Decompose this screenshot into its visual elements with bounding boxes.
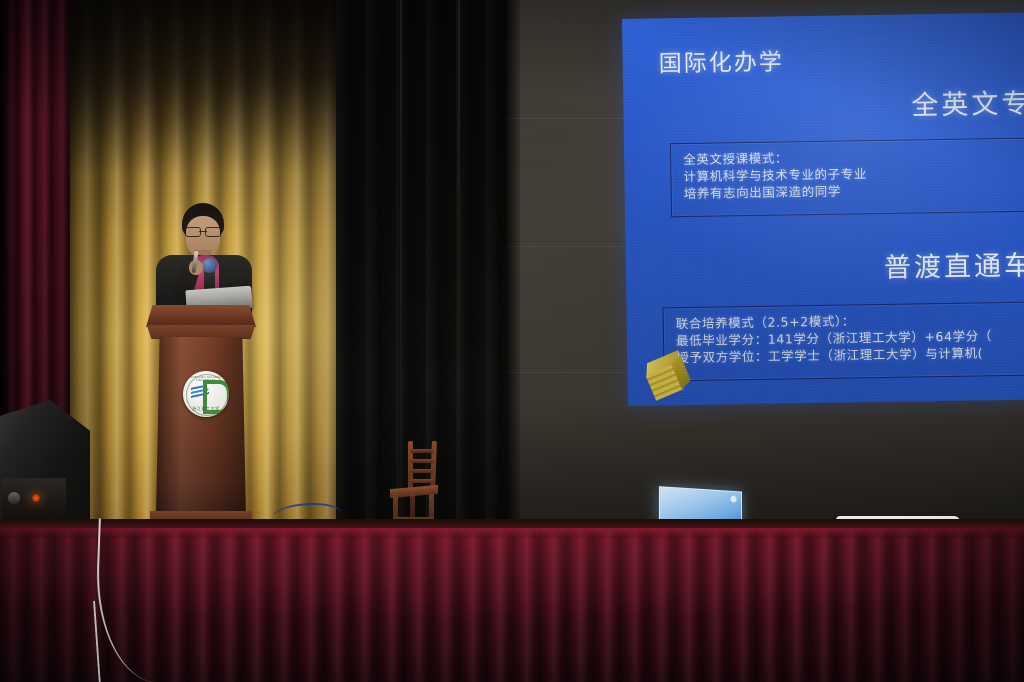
drape-seam [458, 0, 460, 520]
slide-heading-purdue-track: 普渡直通车 [884, 244, 1024, 285]
podium-top-surface [146, 305, 256, 327]
slide-textbox-english-mode: 全英文授课模式： 计算机科学与技术专业的子专业 培养有志向出国深造的同学 [670, 137, 1024, 217]
zhejiang-sci-tech-university-emblem: ZHEJIANG SCI-TECH UNIVERSITY 浙江理工大学 [183, 371, 229, 417]
chair-backrest [408, 441, 436, 491]
slide-title: 国际化办学 [658, 42, 784, 78]
emblem-chinese-name: 浙江理工大学 [183, 406, 229, 412]
stage-audio-monitor [0, 400, 90, 528]
podium-lip [142, 325, 260, 339]
slide-heading-english-program: 全英文专 [911, 82, 1024, 123]
auditorium-stage-photo: 国际化办学 全英文专 全英文授课模式： 计算机科学与技术专业的子专业 培养有志向… [0, 0, 1024, 682]
power-led-icon [32, 494, 40, 502]
lectern-podium: ZHEJIANG SCI-TECH UNIVERSITY 浙江理工大学 [140, 305, 262, 533]
monitor-knob[interactable] [8, 492, 20, 504]
glasses-icon [185, 227, 221, 235]
podium-body [156, 337, 246, 519]
slide-textbox-joint-program: 联合培养模式（2.5+2模式）： 最低毕业学分：141学分（浙江理工大学）+64… [663, 301, 1024, 381]
projected-slide: 国际化办学 全英文专 全英文授课模式： 计算机科学与技术专业的子专业 培养有志向… [622, 12, 1024, 406]
white-power-cable [93, 599, 127, 682]
